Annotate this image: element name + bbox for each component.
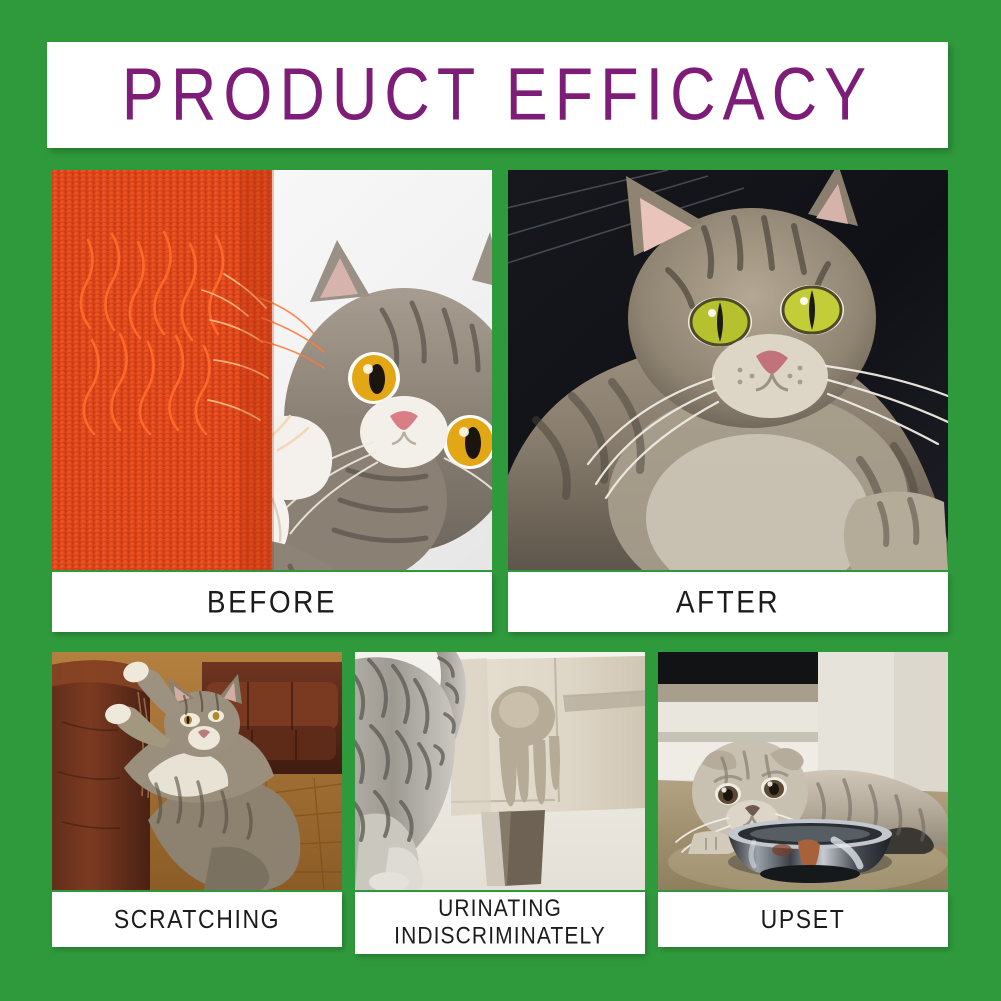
- urinating-panel: URINATING INDISCRIMINATELY: [355, 652, 645, 954]
- before-panel: BEFORE: [52, 170, 492, 632]
- scratching-panel: SCRATCHING: [52, 652, 342, 947]
- title-banner: PRODUCT EFFICACY: [47, 42, 948, 148]
- cat-scratching-orange-fabric-photo: [52, 170, 492, 570]
- after-caption-box: AFTER: [508, 572, 948, 632]
- upset-panel: UPSET: [658, 652, 948, 947]
- page-title: PRODUCT EFFICACY: [122, 58, 873, 132]
- scratching-caption-box: SCRATCHING: [52, 892, 342, 947]
- cat-urinating-sofa-photo: [355, 652, 645, 890]
- after-caption-label: AFTER: [676, 584, 780, 620]
- product-efficacy-poster: PRODUCT EFFICACY: [0, 0, 1001, 1001]
- calm-tabby-cat-photo: [508, 170, 948, 570]
- cat-scratching-sofa-photo: [52, 652, 342, 890]
- upset-caption-box: UPSET: [658, 892, 948, 947]
- scratching-caption-label: SCRATCHING: [114, 905, 280, 934]
- urinating-caption-box: URINATING INDISCRIMINATELY: [355, 892, 645, 954]
- upset-caption-label: UPSET: [761, 905, 846, 934]
- before-caption-label: BEFORE: [207, 584, 337, 620]
- after-panel: AFTER: [508, 170, 948, 632]
- urinating-caption-label: URINATING INDISCRIMINATELY: [394, 896, 606, 950]
- upset-cat-food-bowl-photo: [658, 652, 948, 890]
- before-caption-box: BEFORE: [52, 572, 492, 632]
